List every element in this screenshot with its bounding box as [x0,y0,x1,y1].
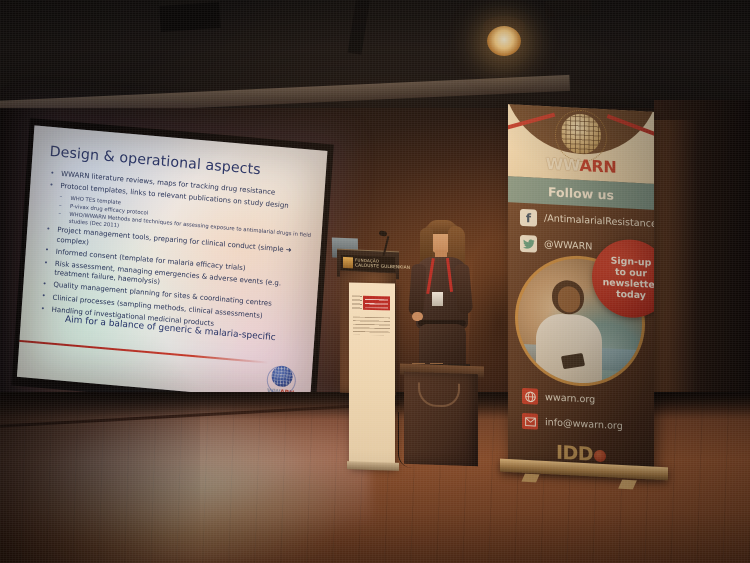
banner-red-block [363,296,390,311]
globe-icon [522,388,538,405]
iddo-dot-icon [594,450,606,463]
slide-bullet-list: WWARN literature reviews, maps for track… [38,169,315,340]
twitter-bird-glyph [523,238,535,249]
slide-rule [19,340,268,364]
projection-screen: Design & operational aspects WWARN liter… [11,118,334,412]
globe-glyph [525,391,536,403]
banner-follow-label: Follow us [548,184,614,202]
projected-slide: Design & operational aspects WWARN liter… [17,125,328,402]
newsletter-badge-text: Sign-upto ournewslettertoday [603,255,654,302]
name-badge [432,292,443,306]
facebook-handle: /AntimalarialResistance [544,213,654,230]
badge-line-4: today [616,289,646,302]
stage-photo-scene: Design & operational aspects WWARN liter… [0,0,750,563]
right-wall-glow [648,120,698,420]
lectern-plaque: FUNDAÇÃO CALOUSTE GULBENKIAN [341,255,395,272]
contact-row-website[interactable]: wwarn.org [522,388,652,411]
equipment-case [404,372,478,467]
floor-left-shadow [0,392,200,563]
banner-body-text [353,317,390,336]
website-url: wwarn.org [545,392,595,406]
photo-person-body [536,313,602,386]
ceiling-lamp-icon [487,26,521,56]
social-row-facebook[interactable]: f /AntimalarialResistance [520,209,654,233]
ceiling-rig-box [159,2,221,32]
banner-wordmark-prefix: WW [546,154,580,175]
banner-text-block-left [352,296,362,309]
wwarn-rollup-banner: WWARN Follow us f /AntimalarialResistanc… [508,104,654,474]
gulbenkian-logo-icon [343,257,353,268]
facebook-icon: f [520,209,537,227]
speaker-right-arm [454,263,473,314]
twitter-handle: @WWARN [544,239,592,253]
globe-icon [561,113,601,155]
banner-wordmark: WWARN [508,152,654,179]
ceiling [0,0,750,120]
banner-red-block-text [365,298,388,307]
case-handle [418,382,460,407]
floor-cable [398,412,415,468]
email-address: info@wwarn.org [545,417,623,432]
secondary-pullup-banner [349,283,395,469]
envelope-icon [522,413,538,430]
banner-header: WWARN [508,104,654,184]
photo-person-face [558,286,580,313]
ceiling-rig-arm [348,0,371,55]
ceiling-rig-arm-right [545,0,592,17]
twitter-icon [520,235,537,253]
envelope-glyph [525,417,536,427]
banner-contact-list: wwarn.org info@wwarn.org [522,388,652,445]
contact-row-email[interactable]: info@wwarn.org [522,413,652,436]
banner-wordmark-suffix: ARN [579,156,616,177]
